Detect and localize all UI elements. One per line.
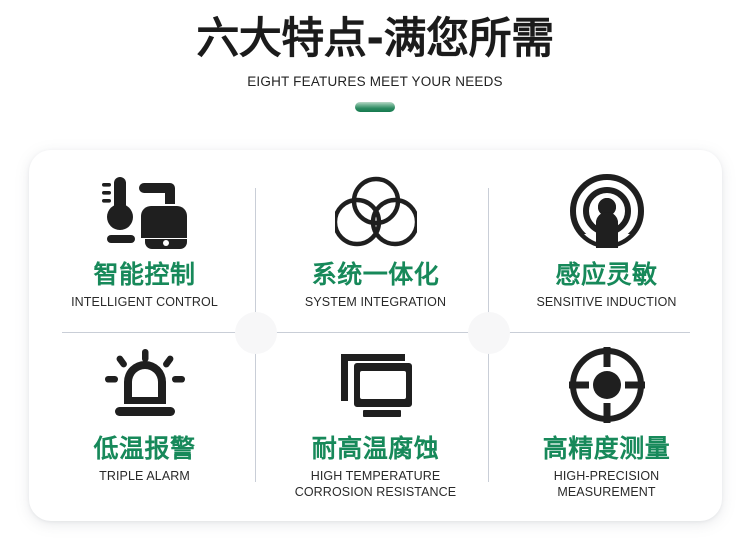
induction-sensor-icon [570,168,644,254]
feature-caption: HIGH-PRECISION MEASUREMENT [512,469,702,500]
alarm-beacon-icon [103,342,187,428]
feature-caption: SENSITIVE INDUCTION [536,295,676,311]
feature-title: 智能控制 [93,259,195,290]
feature-caption: SYSTEM INTEGRATION [305,295,446,311]
feature-item-sensitive-induction[interactable]: 感应灵敏 SENSITIVE INDUCTION [491,168,722,311]
feature-caption: INTELLIGENT CONTROL [71,295,218,311]
monitor-layers-icon [335,342,417,428]
feature-title: 感应灵敏 [555,259,657,290]
feature-title: 系统一体化 [312,259,440,290]
feature-item-triple-alarm[interactable]: 低温报警 TRIPLE ALARM [29,342,260,485]
triquetra-icon [335,168,417,254]
features-card: 智能控制 INTELLIGENT CONTROL 系统一体化 SYSTEM IN… [29,150,722,521]
horizontal-divider [62,332,690,333]
feature-item-system-integration[interactable]: 系统一体化 SYSTEM INTEGRATION [260,168,491,311]
header-divider [0,101,750,113]
feature-caption: TRIPLE ALARM [99,469,190,485]
feature-caption: HIGH TEMPERATURE CORROSION RESISTANCE [281,469,471,500]
feature-item-high-precision[interactable]: 高精度测量 HIGH-PRECISION MEASUREMENT [491,342,722,500]
feature-item-intelligent-control[interactable]: 智能控制 INTELLIGENT CONTROL [29,168,260,311]
feature-title: 高精度测量 [543,433,671,464]
feature-item-corrosion-resistance[interactable]: 耐高温腐蚀 HIGH TEMPERATURE CORROSION RESISTA… [260,342,491,500]
features-grid: 智能控制 INTELLIGENT CONTROL 系统一体化 SYSTEM IN… [29,150,722,521]
crosshair-target-icon [569,342,645,428]
pill-divider-icon [355,102,395,112]
page-title: 六大特点-满您所需 [0,14,750,64]
page-header: 六大特点-满您所需 EIGHT FEATURES MEET YOUR NEEDS [0,0,750,113]
feature-title: 耐高温腐蚀 [312,433,440,464]
thermometer-remote-icon [102,168,188,254]
page-subtitle: EIGHT FEATURES MEET YOUR NEEDS [0,74,750,90]
feature-title: 低温报警 [93,433,195,464]
